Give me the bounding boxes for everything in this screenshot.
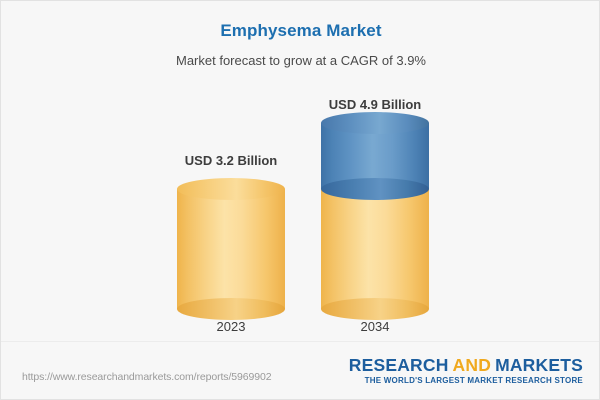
cylinder-body [321,189,429,309]
logo-word-markets: MARKETS [495,355,583,375]
chart-plot-area: Emphysema Market Market forecast to grow… [1,1,600,341]
bar-cylinder-2034[interactable] [321,123,429,309]
report-url[interactable]: https://www.researchandmarkets.com/repor… [22,371,271,383]
cylinder-body [177,189,285,309]
chart-title: Emphysema Market [1,21,600,41]
logo-word-research: RESEARCH [349,355,449,375]
value-label-2023: USD 3.2 Billion [151,153,311,168]
chart-card: Emphysema Market Market forecast to grow… [0,0,600,400]
logo-wordmark: RESEARCHANDMARKETS [349,356,583,374]
bar-segment-2034-growth [321,123,429,189]
logo-tagline: THE WORLD'S LARGEST MARKET RESEARCH STOR… [349,376,583,385]
bar-cylinder-2023[interactable] [177,189,285,309]
cylinder-top-cap [177,178,285,200]
bar-segment-2023-base [177,189,285,309]
cylinder-bottom-cap [321,178,429,200]
category-label-2034: 2034 [295,319,455,334]
cylinder-bottom-cap [177,298,285,320]
cylinder-top-cap [321,112,429,134]
bar-segment-2034-base [321,189,429,309]
logo-word-and: AND [453,355,492,375]
research-and-markets-logo[interactable]: RESEARCHANDMARKETS THE WORLD'S LARGEST M… [349,356,583,385]
value-label-2034: USD 4.9 Billion [295,97,455,112]
chart-subtitle: Market forecast to grow at a CAGR of 3.9… [1,53,600,68]
cylinder-bottom-cap [321,298,429,320]
category-label-2023: 2023 [151,319,311,334]
chart-footer: https://www.researchandmarkets.com/repor… [1,341,600,400]
